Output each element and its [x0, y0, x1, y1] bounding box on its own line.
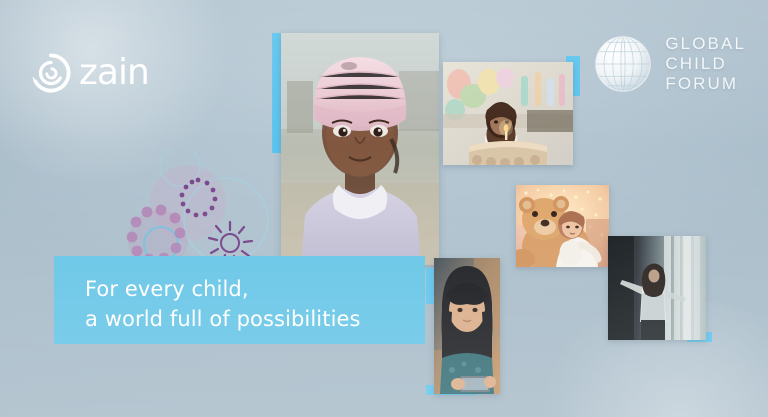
gcf-line-1: GLOBAL — [665, 34, 746, 54]
zain-wordmark: zain — [79, 55, 149, 91]
campaign-key-visual: zain — [0, 0, 768, 417]
hero-photo-accent-left — [272, 33, 281, 153]
gcf-line-3: FORUM — [665, 74, 746, 94]
photo-hero-girl-pink-hat — [281, 33, 439, 265]
photo-girl-with-tablet — [434, 258, 500, 394]
gcf-line-2: CHILD — [665, 54, 746, 74]
globe-icon — [589, 30, 657, 98]
global-child-forum-logo: GLOBAL CHILD FORUM — [589, 30, 746, 98]
photo-dark-artwork — [608, 236, 706, 340]
tagline-text: For every child, a world full of possibi… — [85, 274, 361, 335]
photo-teddy-artwork — [516, 185, 609, 267]
zain-logo: zain — [30, 52, 149, 94]
global-child-forum-wordmark: GLOBAL CHILD FORUM — [665, 34, 746, 94]
zain-spiral-logo-icon — [30, 52, 72, 94]
photo-girl-birthday-cake — [443, 62, 573, 165]
photo-child-teddy-bear — [516, 185, 609, 267]
photo-girl-arms-outstretched-window — [608, 236, 706, 340]
photo-hero-artwork — [281, 33, 439, 265]
photo-tablet-artwork — [434, 258, 500, 394]
photo-cake-artwork — [443, 62, 573, 165]
tagline-banner: For every child, a world full of possibi… — [54, 256, 425, 344]
